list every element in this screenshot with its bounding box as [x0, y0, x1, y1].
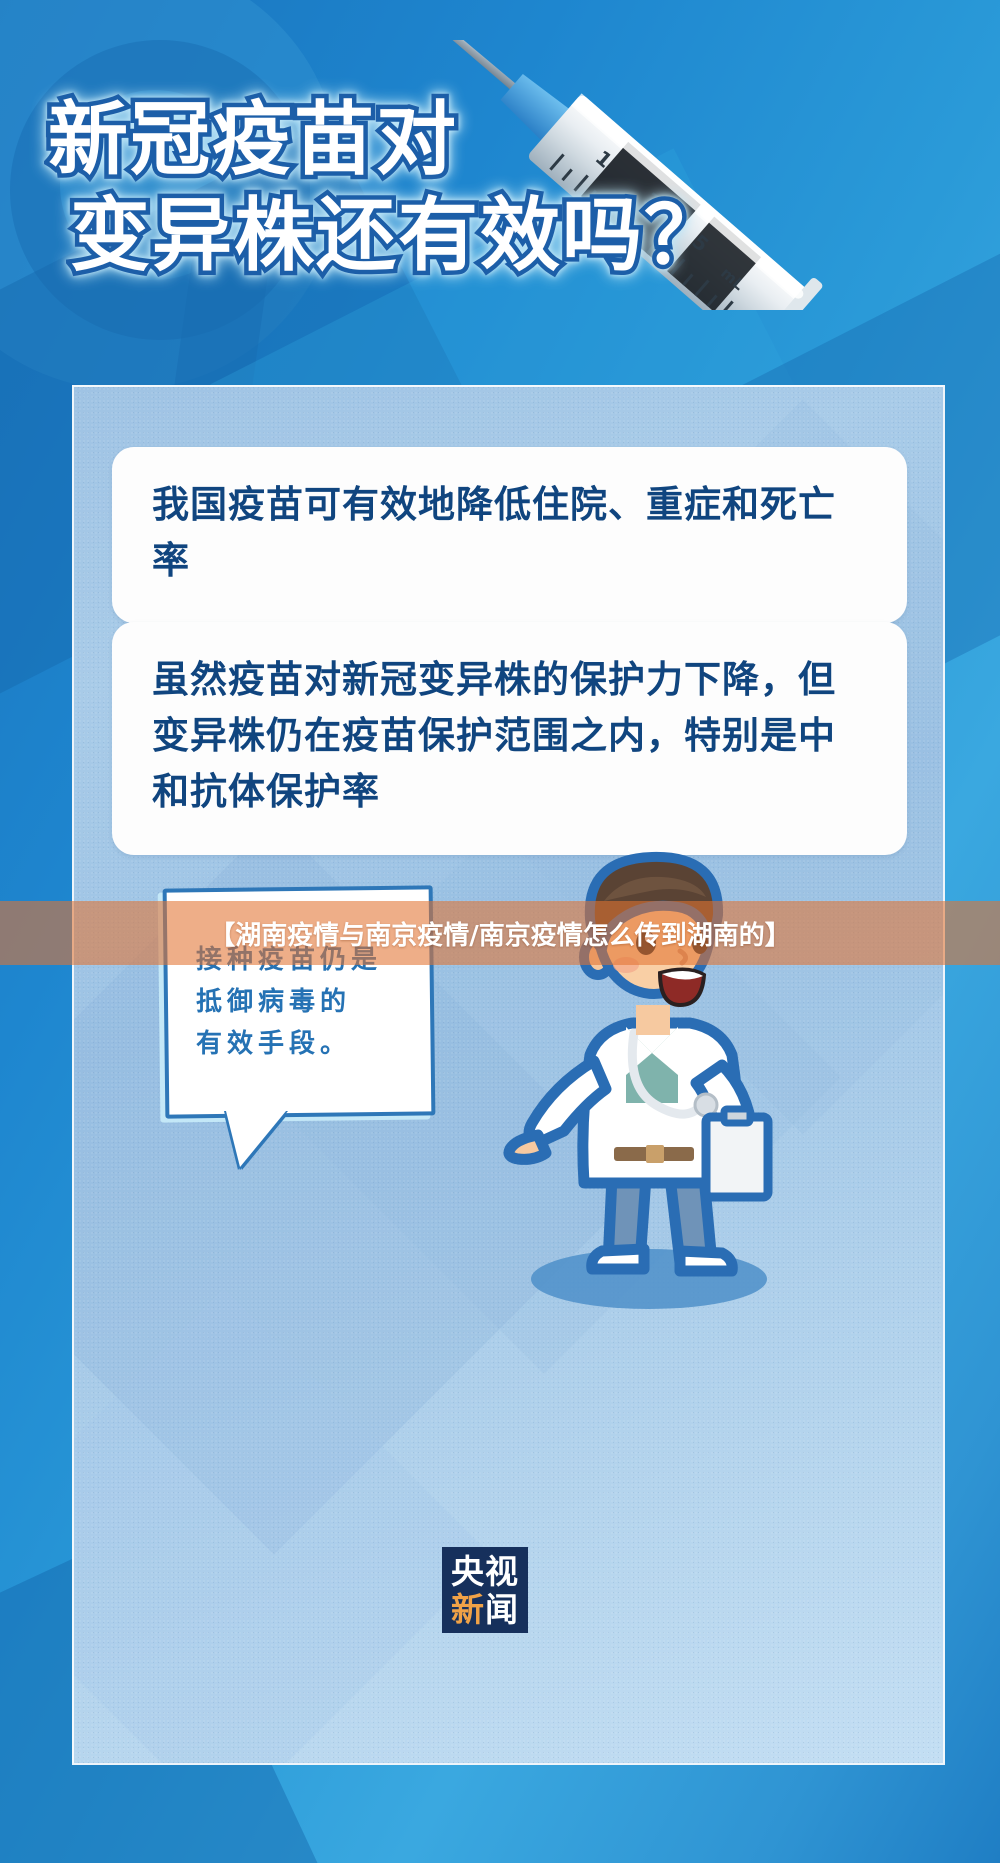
logo-text-top: 央视 [451, 1555, 519, 1588]
overlay-banner: 【湖南疫情与南京疫情/南京疫情怎么传到湖南的】 [0, 901, 1000, 965]
speech-bubble-line-2: 抵御病毒的 [196, 981, 418, 1023]
headline: 新冠疫苗对 变异株还有效吗？ [48, 95, 828, 280]
logo-char-wen: 闻 [485, 1593, 519, 1626]
cctv-news-logo: 央视 新 闻 [442, 1547, 528, 1633]
poster-root: 1 3 5 mL 新冠疫苗对 变异株还有效吗？ 我国疫苗可有效地降低住院、重症和… [0, 0, 1000, 1863]
headline-line-2: 变异株还有效吗？ [70, 191, 828, 281]
info-card-1-text: 我国疫苗可有效地降低住院、重症和死亡率 [152, 477, 867, 589]
info-card-1: 我国疫苗可有效地降低住院、重症和死亡率 [112, 447, 907, 623]
info-card-2-text: 虽然疫苗对新冠变异株的保护力下降，但变异株仍在疫苗保护范围之内，特别是中和抗体保… [152, 652, 867, 821]
content-panel: 我国疫苗可有效地降低住院、重症和死亡率 虽然疫苗对新冠变异株的保护力下降，但变异… [72, 385, 945, 1765]
info-card-2: 虽然疫苗对新冠变异株的保护力下降，但变异株仍在疫苗保护范围之内，特别是中和抗体保… [112, 622, 907, 855]
headline-line-1: 新冠疫苗对 [48, 95, 828, 185]
logo-char-xin: 新 [451, 1593, 485, 1626]
logo-text-bottom: 新 闻 [451, 1593, 519, 1626]
overlay-banner-text: 【湖南疫情与南京疫情/南京疫情怎么传到湖南的】 [209, 915, 791, 952]
speech-bubble-line-3: 有效手段。 [196, 1023, 418, 1065]
speech-bubble-tail [226, 1111, 286, 1167]
